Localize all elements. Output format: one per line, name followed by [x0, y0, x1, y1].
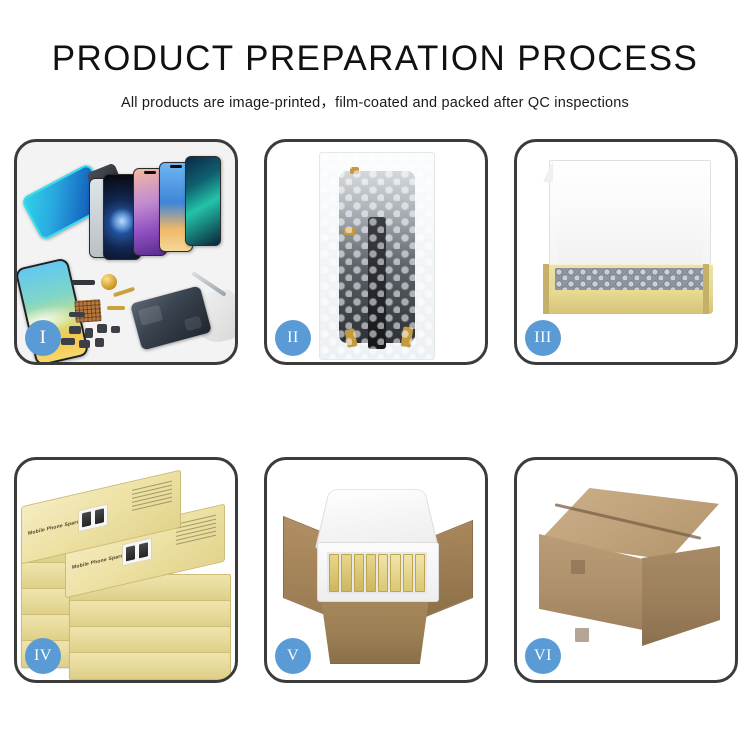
packed-box [403, 554, 413, 592]
page-header: PRODUCT PREPARATION PROCESS All products… [0, 0, 750, 112]
window-phone-image [82, 511, 91, 527]
chip-grid-part [74, 299, 101, 323]
page-subtitle: All products are image-printed，film-coat… [0, 91, 750, 112]
step-1-numeral-badge: I [25, 320, 61, 356]
window-phone-image [139, 542, 148, 558]
small-component-part [97, 324, 107, 333]
flex-cable-part [113, 287, 135, 298]
small-component-part [69, 326, 81, 334]
bubble-texture [320, 153, 434, 359]
small-component-part [79, 340, 90, 348]
small-component-part [61, 338, 75, 345]
process-step-3: III [514, 139, 738, 365]
box-left-edge [543, 264, 549, 314]
small-component-part [85, 328, 93, 338]
process-step-5: V [264, 457, 488, 683]
small-component-part [69, 312, 85, 317]
packed-box [378, 554, 388, 592]
process-step-2: II [264, 139, 488, 365]
notch [170, 165, 182, 168]
packed-box [415, 554, 425, 592]
carton-flap-tab [575, 628, 589, 642]
small-component-part [111, 326, 120, 333]
carton-side-face [642, 546, 720, 646]
white-foam-sheet [557, 190, 703, 274]
step-2-numeral-badge: II [275, 320, 311, 356]
box-lid-flap [543, 160, 553, 182]
process-step-grid: I II III [14, 139, 738, 683]
step-5-numeral-badge: V [275, 638, 311, 674]
stacked-box [69, 600, 231, 628]
step-4-numeral-badge: IV [25, 638, 61, 674]
step-6-numeral-badge: VI [525, 638, 561, 674]
packed-box [341, 554, 351, 592]
small-component-part [95, 338, 104, 347]
packed-box [329, 554, 339, 592]
speaker-module-part [71, 280, 95, 285]
packed-box [390, 554, 400, 592]
copper-coil-part [101, 274, 117, 290]
foam-case-lid [315, 489, 439, 548]
window-phone-image [126, 545, 135, 561]
packed-box [366, 554, 376, 592]
bubble-wrap-bag [319, 152, 435, 360]
box-spec-lines [176, 515, 216, 558]
packed-box [354, 554, 364, 592]
notch [116, 177, 128, 180]
stacked-box [69, 626, 231, 654]
window-phone-image [95, 508, 104, 524]
display-fan [89, 156, 235, 261]
stacked-box [69, 652, 231, 680]
kraft-box-front-panel [545, 290, 713, 314]
box-spec-lines [132, 481, 172, 524]
carton-flap-tab [571, 560, 585, 574]
process-step-1: I [14, 139, 238, 365]
phone-back-housing [130, 286, 212, 351]
packed-boxes-row [327, 552, 427, 594]
display-assembly-teal [185, 156, 221, 246]
step-3-numeral-badge: III [525, 320, 561, 356]
flex-cable-part [107, 306, 125, 310]
product-window [122, 537, 152, 566]
notch [144, 171, 156, 174]
process-step-6: VI [514, 457, 738, 683]
process-step-4: Mobile Phone Spare Parts Mobile Phone Sp… [14, 457, 238, 683]
product-window [78, 503, 108, 532]
box-right-edge [703, 264, 709, 314]
page-title: PRODUCT PREPARATION PROCESS [0, 40, 750, 79]
